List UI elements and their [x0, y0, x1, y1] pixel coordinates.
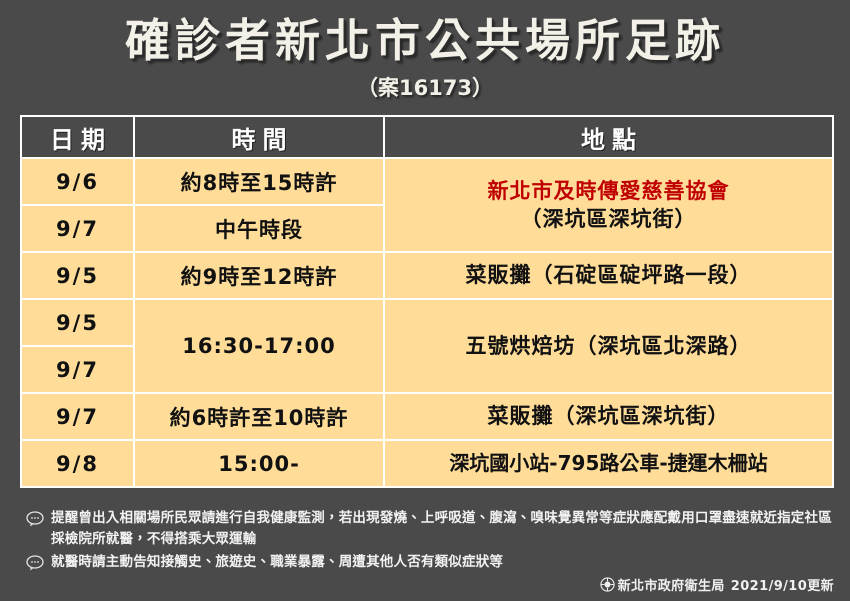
column-header-date: 日期 [21, 116, 134, 158]
cell-time: 約9時至12時許 [134, 252, 384, 299]
poster-root: 確診者新北市公共場所足跡 （案16173） 日期 時間 地點 9/6 [0, 0, 850, 601]
credit-updated: 2021/9/10更新 [731, 575, 834, 594]
table-row: 9/8 15:00- 深坑國小站-795路公車-捷運木柵站 [21, 440, 833, 487]
government-logo-icon [600, 577, 615, 592]
cell-place: 新北市及時傳愛慈善協會 （深坑區深坑街） [384, 158, 833, 252]
table-body: 9/6 約8時至15時許 新北市及時傳愛慈善協會 （深坑區深坑街） 9/7 中午… [21, 158, 833, 487]
cell-date: 9/5 [21, 252, 134, 299]
cell-date: 9/5 [21, 299, 134, 346]
title-block: 確診者新北市公共場所足跡 （案16173） [0, 0, 850, 102]
note-item: 提醒曾出入相關場所民眾請進行自我健康監測，若出現發燒、上呼吸道、腹瀉、嗅味覺異常… [26, 508, 834, 549]
cell-time: 約8時至15時許 [134, 158, 384, 205]
credit-organization: 新北市政府衛生局 [618, 575, 725, 594]
notes-block: 提醒曾出入相關場所民眾請進行自我健康監測，若出現發燒、上呼吸道、腹瀉、嗅味覺異常… [26, 508, 834, 576]
speech-bubble-icon [26, 511, 44, 527]
cell-time: 16:30-17:00 [134, 299, 384, 393]
cell-date: 9/8 [21, 440, 134, 487]
column-header-place: 地點 [384, 116, 833, 158]
cell-time: 約6時許至10時許 [134, 393, 384, 440]
page-title: 確診者新北市公共場所足跡 [0, 14, 850, 67]
speech-bubble-icon [26, 555, 44, 571]
cell-time: 中午時段 [134, 205, 384, 252]
trace-table-wrap: 日期 時間 地點 9/6 約8時至15時許 新北市及時傳愛慈善協會 （深坑區深坑… [20, 115, 834, 488]
cell-place: 深坑國小站-795路公車-捷運木柵站 [384, 440, 833, 487]
credit-block: 新北市政府衛生局 2021/9/10更新 [600, 575, 834, 594]
note-item: 就醫時請主動告知接觸史、旅遊史、職業暴露、周遭其他人否有類似症狀等 [26, 552, 834, 573]
cell-place: 五號烘焙坊（深坑區北深路） [384, 299, 833, 393]
cell-place: 菜販攤（石碇區碇坪路一段） [384, 252, 833, 299]
case-subtitle: （案16173） [0, 72, 850, 102]
column-header-time: 時間 [134, 116, 384, 158]
cell-date: 9/7 [21, 393, 134, 440]
cell-date: 9/7 [21, 205, 134, 252]
cell-date: 9/6 [21, 158, 134, 205]
cell-place: 菜販攤（深坑區深坑街） [384, 393, 833, 440]
place-name-highlight: 新北市及時傳愛慈善協會 [385, 177, 832, 205]
note-text: 提醒曾出入相關場所民眾請進行自我健康監測，若出現發燒、上呼吸道、腹瀉、嗅味覺異常… [51, 508, 834, 549]
table-row: 9/7 約6時許至10時許 菜販攤（深坑區深坑街） [21, 393, 833, 440]
table-row: 9/5 16:30-17:00 五號烘焙坊（深坑區北深路） [21, 299, 833, 346]
table-row: 9/6 約8時至15時許 新北市及時傳愛慈善協會 （深坑區深坑街） [21, 158, 833, 205]
note-text: 就醫時請主動告知接觸史、旅遊史、職業暴露、周遭其他人否有類似症狀等 [51, 552, 503, 573]
trace-table: 日期 時間 地點 9/6 約8時至15時許 新北市及時傳愛慈善協會 （深坑區深坑… [20, 115, 834, 488]
cell-time: 15:00- [134, 440, 384, 487]
table-header-row: 日期 時間 地點 [21, 116, 833, 158]
table-row: 9/5 約9時至12時許 菜販攤（石碇區碇坪路一段） [21, 252, 833, 299]
place-address: （深坑區深坑街） [385, 205, 832, 233]
cell-date: 9/7 [21, 346, 134, 393]
table-header: 日期 時間 地點 [21, 116, 833, 158]
